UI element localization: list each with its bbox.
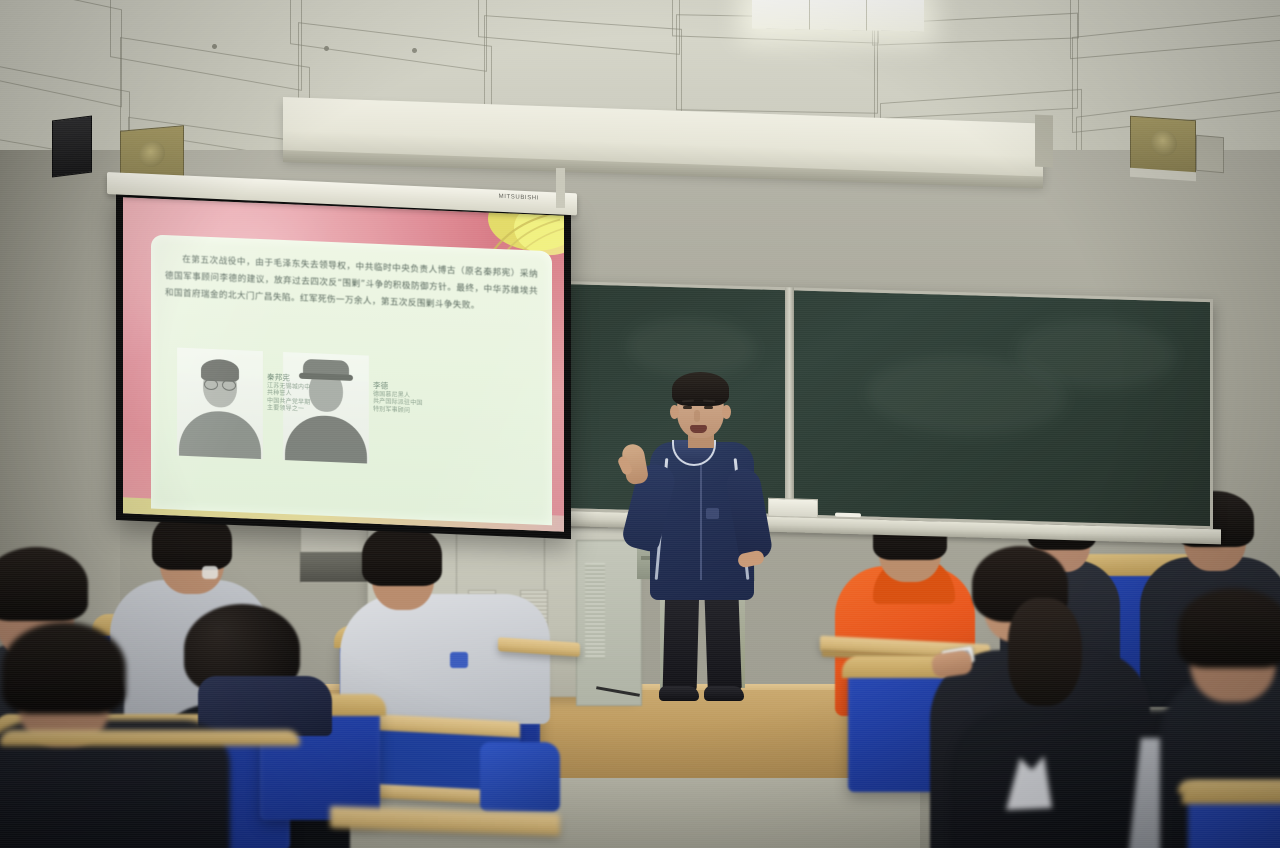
student-nearest-left [0,650,230,848]
slide-figure-caption-1: 秦邦宪 江苏无锡城内中共种誉人中国共产党早期主要领导之一 [267,373,310,413]
blue-bag[interactable] [480,742,560,812]
mouth-speaking [690,425,707,433]
projection-screen[interactable]: 在第五次战役中，由于毛泽东失去领导权，中共临时中央负责人博古（原名秦邦宪）采纳德… [116,190,571,539]
speaker-cone-icon [139,140,165,168]
student-hair [362,524,442,586]
cabinet-vent [585,563,605,659]
shoe [704,686,744,701]
projector-brand-label: MITSUBISHI [499,194,539,202]
face-mask [202,566,218,579]
ear [670,405,679,419]
lecturer-legs [662,586,744,692]
classroom-photo: MITSUBISHI 在第五次战役中，由于毛泽东失去领导权，中共临时中央负责人博… [0,0,1280,848]
speaker-cone-icon [1151,129,1177,157]
lecturer[interactable] [620,372,790,712]
jacket-logo [706,508,719,519]
chalk-stick[interactable] [835,513,861,518]
black-speaker [52,116,92,178]
eye [704,406,713,409]
gold-speaker-right [1130,116,1196,175]
slide-figure-group: 秦邦宪 江苏无锡城内中共种誉人中国共产党早期主要领导之一 李德 德国慕尼黑人共产… [161,347,546,473]
slide-figure-caption-2: 李德 德国慕尼黑人共产国际派驻中国特别军事顾问 [373,382,423,415]
slide-content-panel: 在第五次战役中，由于毛泽东失去领导权，中共临时中央负责人博古（原名秦邦宪）采纳德… [151,234,552,525]
jacket-zipper [700,464,702,580]
student-grey-jacket-leaning [340,524,550,714]
eye [683,406,692,409]
seat-trim [0,730,300,746]
jacket-patch [450,652,468,668]
slide-figure-portrait-1 [177,348,263,460]
presentation-slide: 在第五次战役中，由于毛泽东失去领导权，中共临时中央负责人博古（原名秦邦宪）采纳德… [123,197,564,531]
shoe [659,686,699,701]
screen-bracket [556,168,565,208]
wall-vent [1196,135,1224,173]
ear [722,405,731,419]
seat[interactable] [1188,788,1280,848]
round-glasses-icon [204,379,236,389]
ceiling-light [752,0,924,32]
lecturer-hair [672,372,729,406]
jacket-emblem-icon [998,752,1058,814]
soffit-end-cap [1035,115,1053,168]
